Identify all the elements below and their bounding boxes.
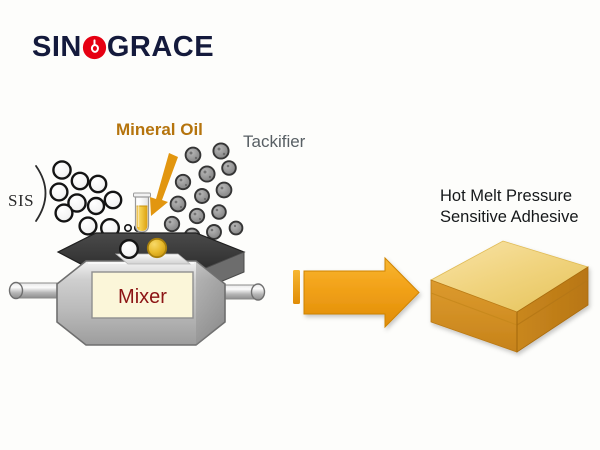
melting-arrow-icon (304, 258, 419, 327)
sis-pellet-on-platform (120, 240, 138, 258)
melting-tick-bar (293, 270, 300, 304)
sis-bracket-icon (36, 166, 46, 221)
process-illustration: Mixer (0, 0, 600, 450)
diagram-canvas: SIN GRACE Mineral Oil Tackifier SIS Hot … (0, 0, 600, 450)
melting-arrow-group (293, 258, 419, 327)
adhesive-box (431, 241, 588, 352)
mixer-nameplate: Mixer (92, 272, 193, 318)
test-tube-icon (134, 193, 151, 232)
mixer-machine: Mixer (10, 233, 265, 345)
oil-droplet-on-platform (148, 239, 166, 257)
mixer-label: Mixer (118, 286, 167, 308)
